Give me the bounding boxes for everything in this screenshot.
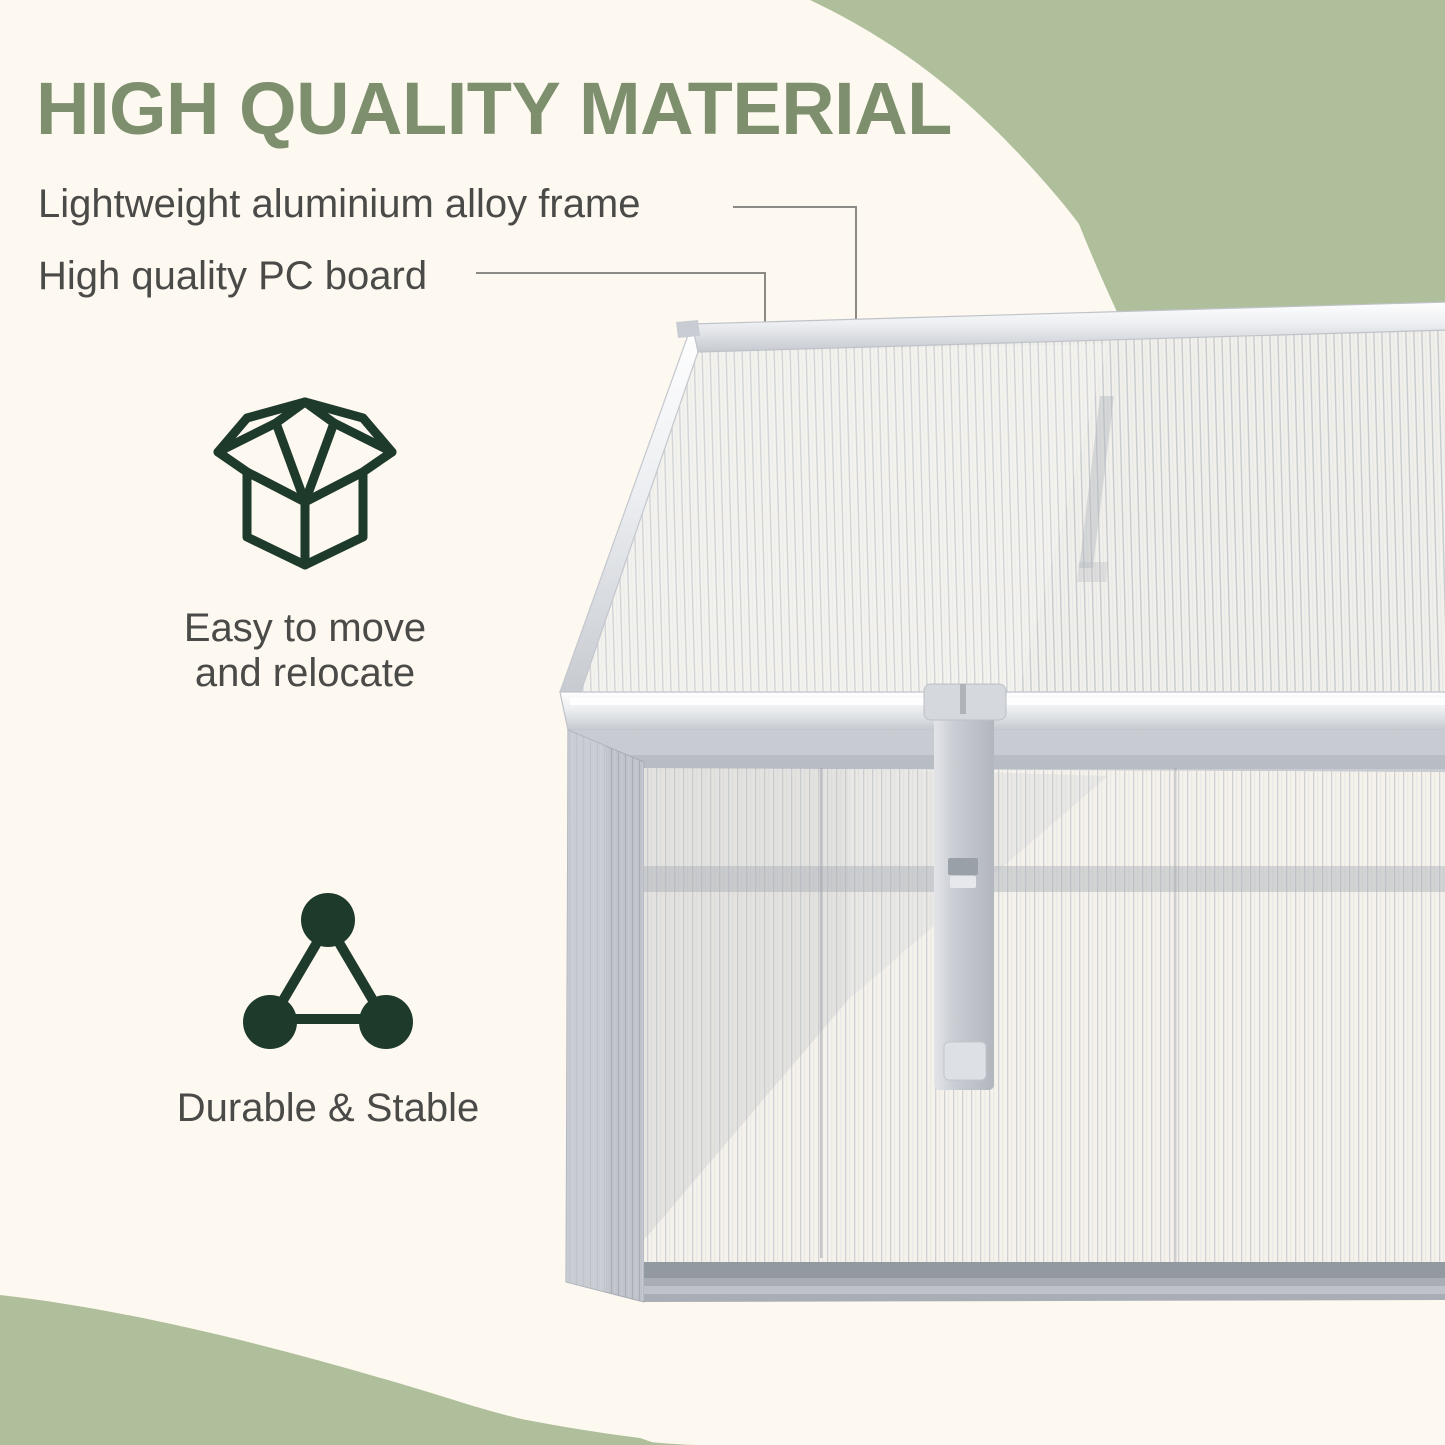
interior-cross-rail [644,866,1445,892]
callout-label-pc-board: High quality PC board [38,256,427,296]
lid-left-hinge-nub [676,320,700,338]
feature-durable-stable: Durable & Stable [118,890,538,1131]
stay-arm [934,698,994,1090]
stay-arm-foot-bracket [944,1042,986,1080]
feature-easy-to-move: Easy to move and relocate [95,390,515,696]
product-infographic-poster: HIGH QUALITY MATERIAL Lightweight alumin… [0,0,1445,1445]
triangle-nodes-icon [228,890,428,1060]
left-corner-post-highlight [566,730,606,1292]
feature-label-easy-to-move: Easy to move and relocate [95,606,515,696]
bottom-left-green-blob [0,1300,660,1445]
bottom-left-green-sliver [349,1394,414,1414]
front-panel-seam-right [1174,768,1177,1262]
open-box-icon [190,390,420,580]
page-title: HIGH QUALITY MATERIAL [36,72,952,146]
stay-arm-notch-upper [948,858,978,875]
leader-line-pcboard-horizontal [476,272,766,274]
front-panel-seam-left [820,768,823,1258]
body-top-rail-shade [578,755,1445,769]
stay-arm-hinge-pin [960,684,966,714]
bottom-left-green-curve [0,1295,700,1445]
body-bottom-rail-shade [644,1262,1445,1278]
lid-handle-shadow-foot [1077,562,1108,582]
leader-line-aluminium-horizontal [733,206,857,208]
lid-sheen [578,344,1108,700]
product-image-cold-frame-greenhouse [548,300,1445,1310]
feature-label-durable-stable: Durable & Stable [118,1086,538,1131]
stay-arm-notch-lower [950,876,976,888]
lid-front-rail-highlight [570,698,1445,705]
body-bottom-rail-highlight [644,1286,1445,1294]
callout-label-aluminium-frame: Lightweight aluminium alloy frame [38,184,641,224]
bottom-left-green-sliver-2 [468,1423,624,1445]
